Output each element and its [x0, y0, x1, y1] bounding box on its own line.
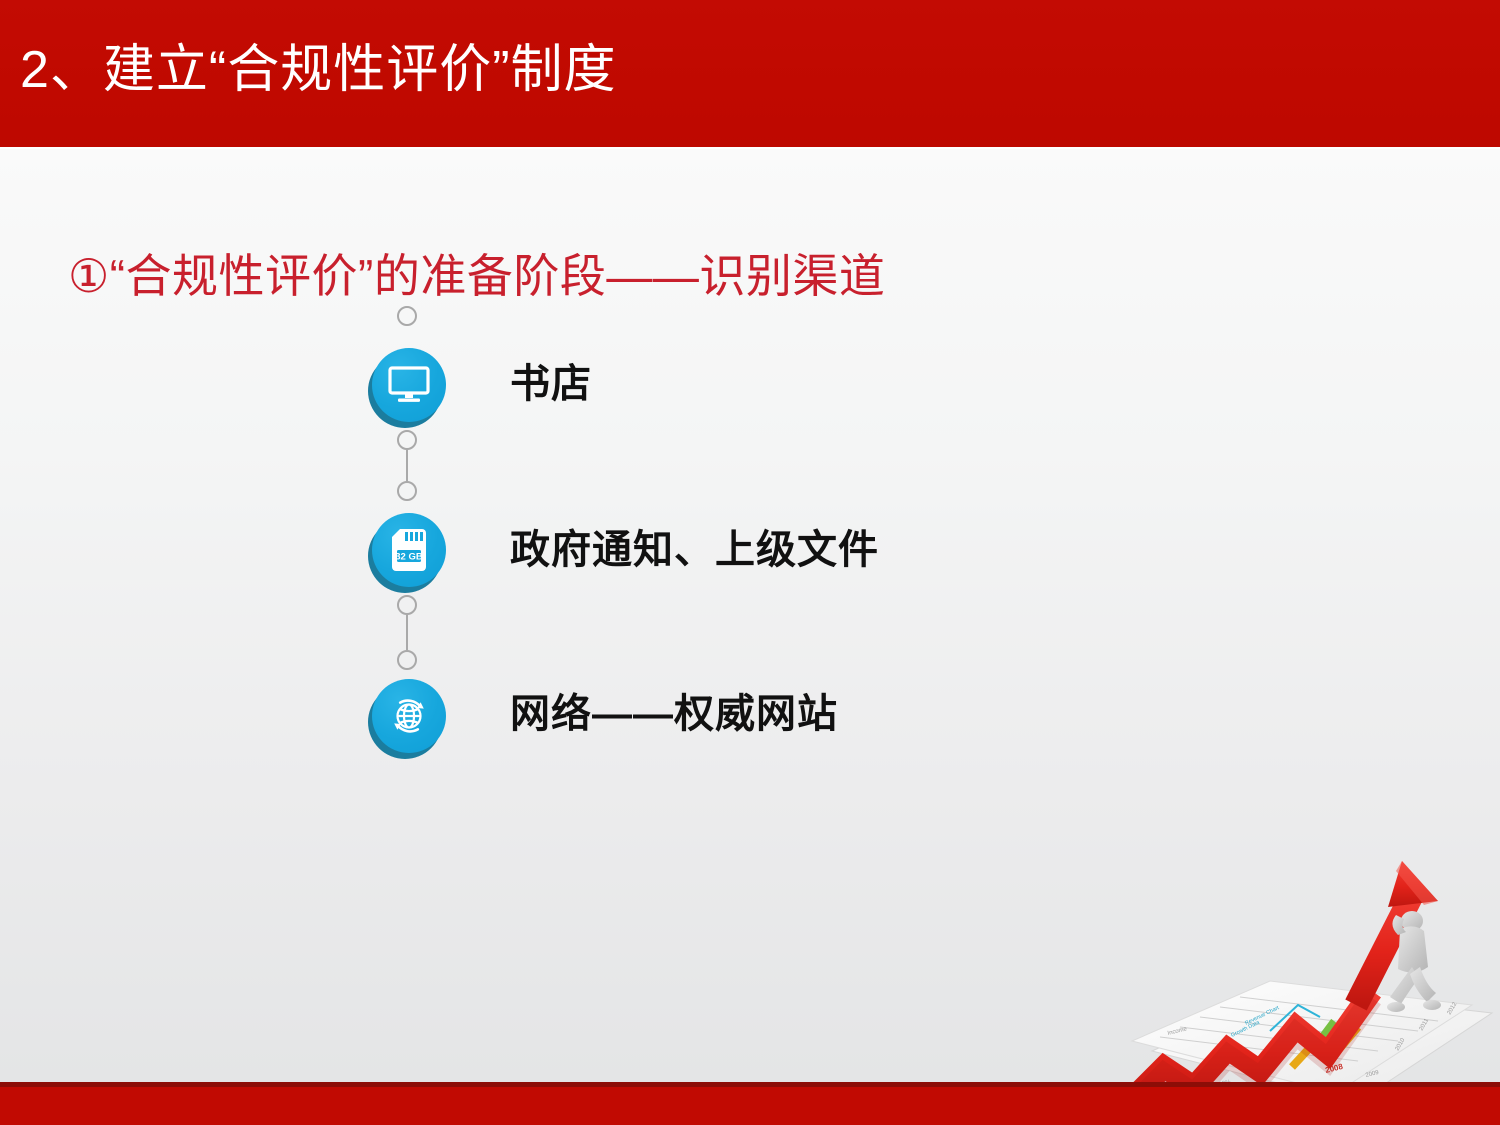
monitor-icon [388, 366, 430, 404]
node-disc [372, 348, 446, 422]
connector-dot [397, 306, 417, 326]
timeline-node-1[interactable] [368, 348, 446, 426]
node-disc: 32 GB [372, 513, 446, 587]
footer-band [0, 1087, 1500, 1125]
timeline-item-label: 网络——权威网站 [510, 688, 838, 740]
timeline-item-label: 政府通知、上级文件 [510, 524, 879, 576]
connector-dot [397, 650, 417, 670]
connector-line [406, 615, 408, 650]
connector-dot [397, 481, 417, 501]
globe-refresh-icon [387, 694, 431, 738]
sd-card-icon: 32 GB [391, 528, 427, 572]
timeline-node-2[interactable]: 32 GB [368, 513, 446, 591]
connector-dot [397, 430, 417, 450]
connector-line [406, 450, 408, 481]
svg-text:32 GB: 32 GB [395, 551, 423, 562]
connector-dot [397, 595, 417, 615]
slide: 2、建立“合规性评价”制度 ①“合规性评价”的准备阶段——识别渠道 [0, 0, 1500, 1125]
timeline-item-label: 书店 [510, 358, 592, 410]
node-disc [372, 679, 446, 753]
timeline-node-3[interactable] [368, 679, 446, 757]
